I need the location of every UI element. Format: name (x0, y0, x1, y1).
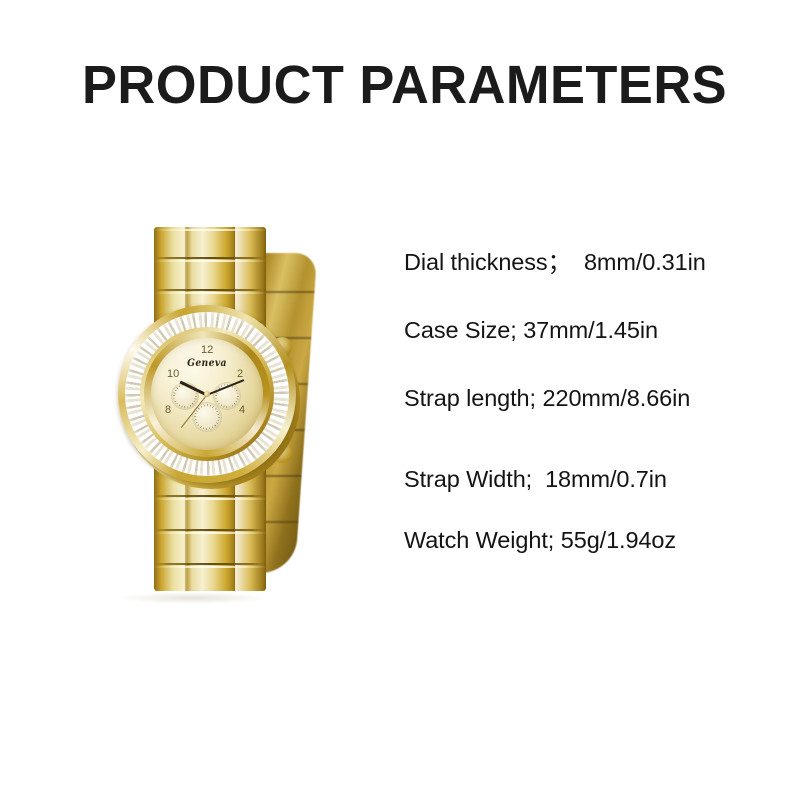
spec-value: 37mm/1.45in (523, 317, 658, 343)
product-image-shadow (118, 592, 268, 604)
spec-label: Strap Width (404, 466, 526, 492)
spec-separator: ; (548, 527, 555, 553)
spec-row-case-size: Case Size; 37mm/1.45in (404, 316, 784, 344)
watch-case: Geneva 12 2 4 8 10 (118, 305, 304, 491)
spec-separator: ; (526, 466, 533, 492)
dial-numeral-10: 10 (167, 368, 179, 380)
spec-row-strap-width: Strap Width; 18mm/0.7in (404, 465, 784, 493)
dial-numeral-8: 8 (165, 404, 171, 416)
spec-value: 55g/1.94oz (561, 527, 676, 553)
page-title: PRODUCT PARAMETERS (82, 57, 703, 113)
hand-cap (204, 391, 210, 397)
spec-row-dial-thickness: Dial thickness； 8mm/0.31in (404, 248, 784, 276)
spec-label: Strap length (404, 385, 530, 411)
spec-label: Watch Weight (404, 527, 548, 553)
product-parameters-page: PRODUCT PARAMETERS (0, 0, 800, 800)
spec-separator: ； (548, 249, 572, 275)
dial-numeral-2: 2 (237, 368, 243, 380)
watch-dial: Geneva 12 2 4 8 10 (151, 338, 263, 450)
spec-separator: ; (530, 385, 537, 411)
spec-value: 220mm/8.66in (543, 385, 691, 411)
spec-label: Case Size (404, 317, 510, 343)
spec-row-watch-weight: Watch Weight; 55g/1.94oz (404, 526, 784, 554)
dial-numeral-4: 4 (239, 404, 245, 416)
spec-value: 18mm/0.7in (545, 466, 667, 492)
spec-row-strap-length: Strap length; 220mm/8.66in (404, 384, 784, 412)
spec-value: 8mm/0.31in (584, 249, 706, 275)
product-image-watch: Geneva 12 2 4 8 10 (112, 205, 312, 605)
dial-numeral-12: 12 (201, 344, 213, 356)
spec-list: Dial thickness； 8mm/0.31in Case Size; 37… (404, 248, 784, 554)
spec-separator: ; (510, 317, 517, 343)
spec-label: Dial thickness (404, 249, 548, 275)
